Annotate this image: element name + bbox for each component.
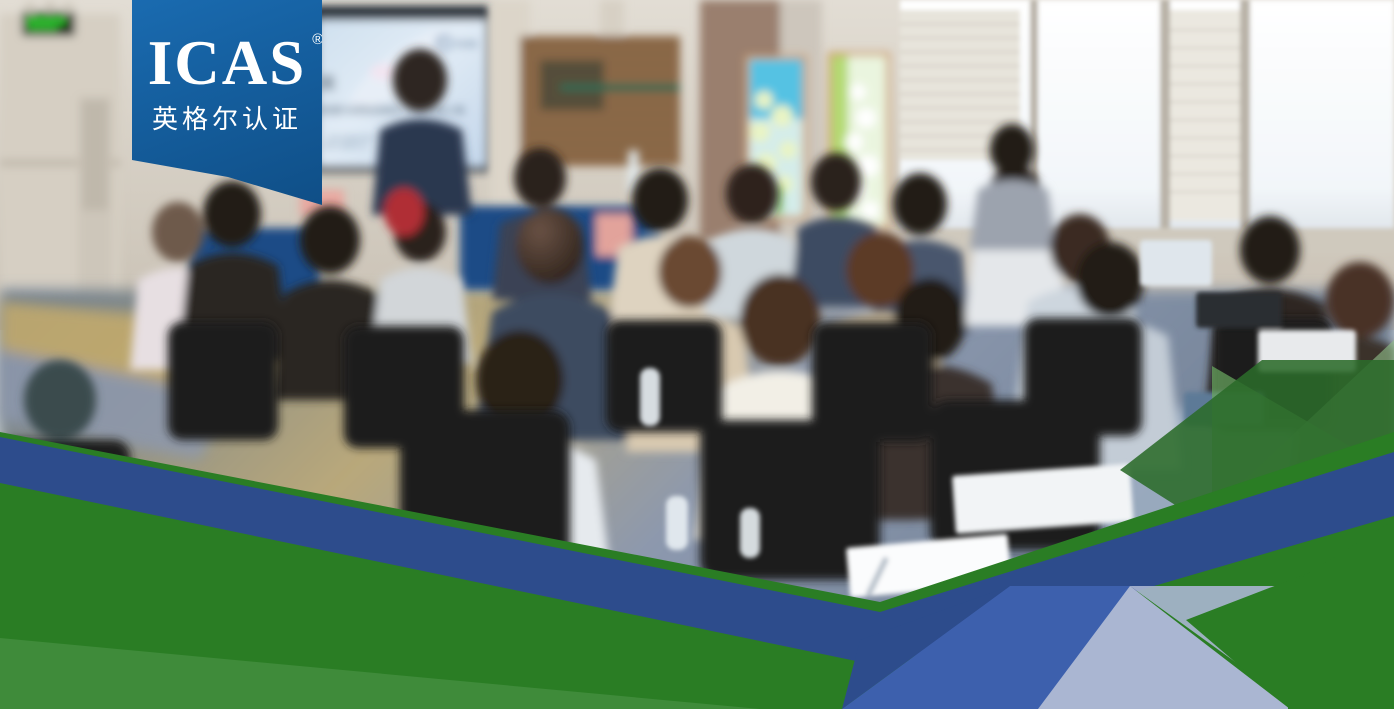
icas-chinese-name: 英格尔认证 [132, 99, 322, 136]
svg-text:上海市环境能源交易所: 上海市环境能源交易所 [324, 135, 374, 142]
banner-root: ICAS 来 业链重与绿色低碳型 应链发展之路 上海市环境能源交易所 碳资产管理… [0, 0, 1394, 709]
icas-logo: ICAS ® 英格尔认证 [132, 34, 322, 136]
registered-trademark-icon: ® [312, 32, 323, 47]
svg-text:业链重与绿色低碳型 应链发展之路: 业链重与绿色低碳型 应链发展之路 [312, 104, 465, 117]
svg-text:ICAS: ICAS [456, 39, 478, 49]
icas-wordmark-wrap: ICAS ® [148, 34, 307, 94]
svg-text:碳资产管理研究中心: 碳资产管理研究中心 [324, 143, 369, 150]
icas-wordmark: ICAS [148, 34, 307, 94]
